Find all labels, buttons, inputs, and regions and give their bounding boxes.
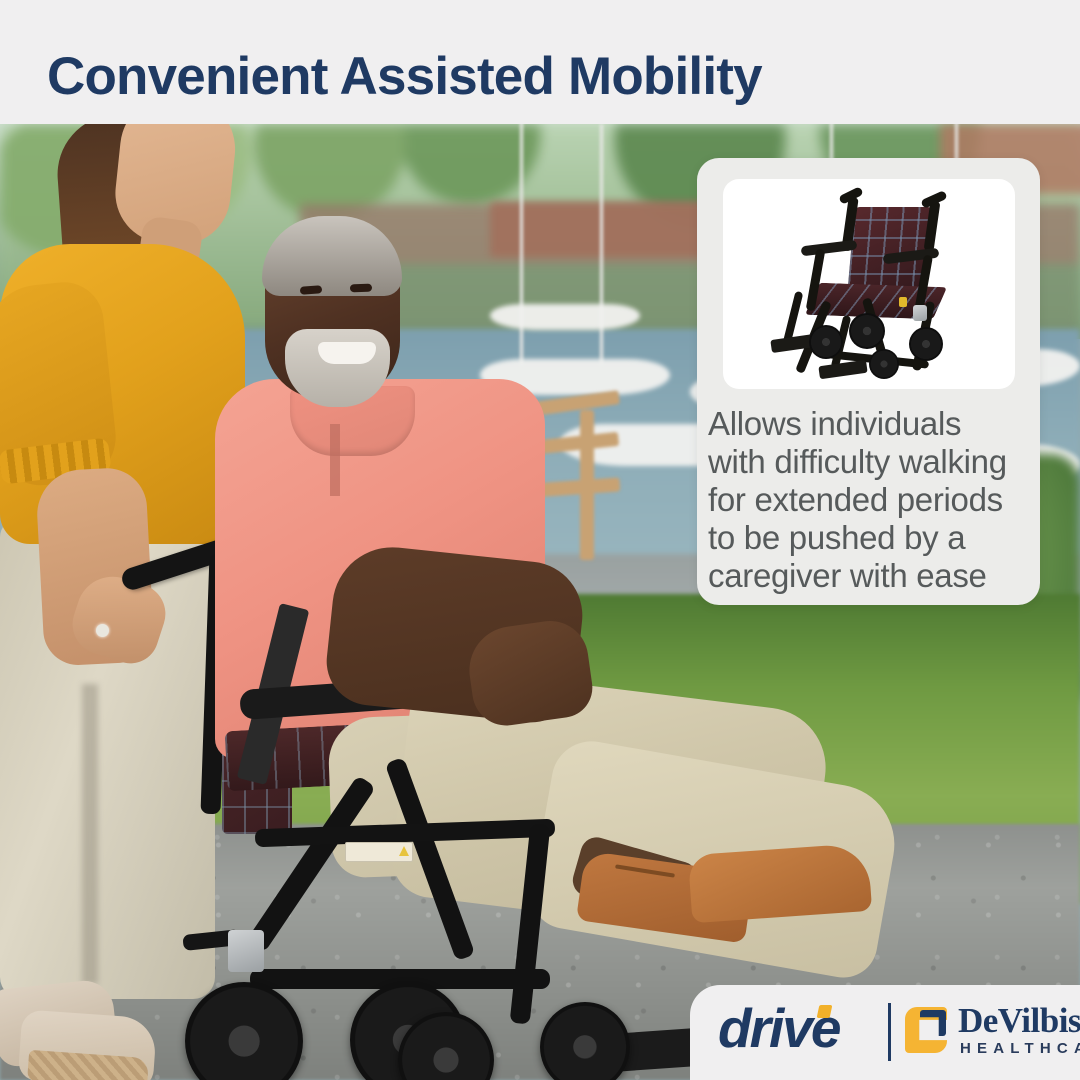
logo-divider bbox=[888, 1003, 891, 1061]
product-info-card: Allows individuals with difficulty walki… bbox=[697, 158, 1040, 605]
product-wheel-4 bbox=[909, 327, 943, 361]
product-brake-hardware bbox=[913, 305, 927, 321]
product-footplate-2 bbox=[818, 360, 867, 380]
product-image-panel bbox=[723, 179, 1015, 389]
page-title: Convenient Assisted Mobility bbox=[47, 49, 762, 105]
product-release-tab bbox=[899, 297, 907, 307]
header-band: Convenient Assisted Mobility bbox=[0, 0, 1080, 124]
description-line-5: caregiver with ease bbox=[708, 557, 1038, 595]
drive-i-dot-icon bbox=[817, 1005, 833, 1018]
description-line-4: to be pushed by a bbox=[708, 519, 1038, 557]
product-armrest-left bbox=[801, 240, 858, 257]
product-wheel-3 bbox=[869, 349, 899, 379]
brand-logo-panel: drive DeVilbiss · HEALTHCARE bbox=[690, 985, 1080, 1080]
seated-man-eye-left bbox=[300, 285, 323, 295]
product-description: Allows individuals with difficulty walki… bbox=[708, 405, 1038, 595]
description-line-1: Allows individuals bbox=[708, 405, 1038, 443]
description-line-2: with difficulty walking bbox=[708, 443, 1038, 481]
wheelchair-warning-label bbox=[345, 842, 413, 862]
caregiver-pants-crease bbox=[82, 684, 98, 984]
devilbiss-mark-icon bbox=[905, 1007, 947, 1053]
caregiver-ring bbox=[96, 624, 109, 637]
seated-man-eye-right bbox=[350, 284, 372, 293]
shore-building-roof bbox=[490, 202, 720, 257]
product-wheel-1 bbox=[809, 325, 843, 359]
devilbiss-mark-navy-shape bbox=[920, 1010, 946, 1036]
product-wheel-2 bbox=[849, 313, 885, 349]
devilbiss-subtitle: HEALTHCARE bbox=[960, 1041, 1080, 1056]
description-line-3: for extended periods bbox=[708, 481, 1038, 519]
devilbiss-wordmark: DeVilbiss bbox=[958, 1003, 1080, 1038]
boat bbox=[490, 304, 640, 330]
seated-man-smile bbox=[318, 342, 376, 364]
poster-canvas: Convenient Assisted Mobility bbox=[0, 0, 1080, 1080]
seated-man-shoe-right bbox=[688, 843, 872, 923]
wheelchair-brake-hardware bbox=[228, 930, 264, 972]
seated-man-placket bbox=[330, 424, 340, 496]
